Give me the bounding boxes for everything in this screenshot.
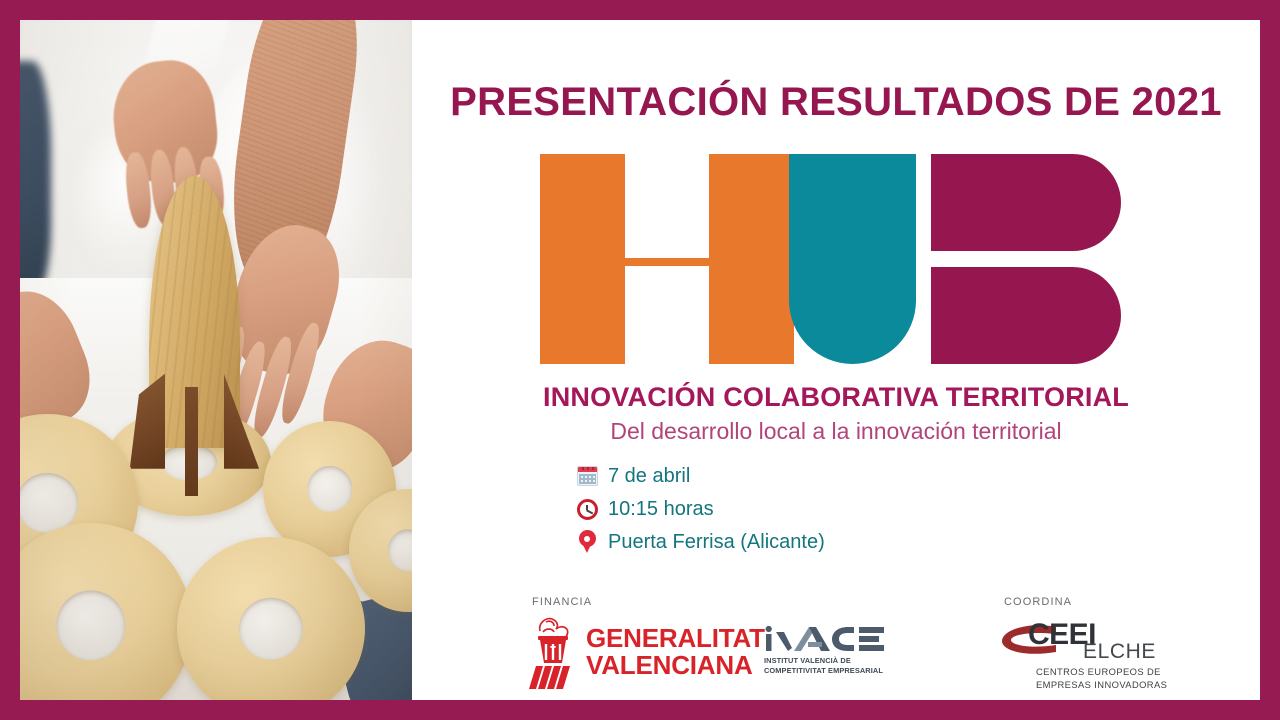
presentation-slide: PRESENTACIÓN RESULTADOS DE 2021 INNOVACI… <box>0 0 1280 720</box>
event-photo <box>20 20 412 700</box>
ceei-subtitle: CENTROS EUROPEOS DE EMPRESAS INNOVADORAS <box>1036 666 1170 692</box>
ceei-city: ELCHE <box>1083 640 1156 664</box>
clock-icon <box>572 496 602 522</box>
ceei-elche-logo: CEEI ELCHE CENTROS EUROPEOS DE EMPRESAS … <box>1000 618 1170 692</box>
generalitat-crest-icon <box>526 614 580 689</box>
event-details: 7 de abril 10:15 horas <box>572 460 1012 559</box>
hub-logo <box>412 154 1260 366</box>
page-title: PRESENTACIÓN RESULTADOS DE 2021 <box>412 80 1260 125</box>
event-date-text: 7 de abril <box>602 465 690 488</box>
hub-logo-letter-h <box>540 154 625 364</box>
hub-logo-letter-u <box>789 154 916 364</box>
calendar-icon <box>572 463 602 489</box>
footer-logos: FINANCIA COORDINA <box>412 576 1260 700</box>
event-detail-time: 10:15 horas <box>572 493 1012 525</box>
generalitat-line-2: VALENCIANA <box>586 650 753 680</box>
hub-logo-letter-h <box>709 154 794 364</box>
generalitat-wordmark: GENERALITAT VALENCIANA <box>586 625 765 678</box>
content-panel: PRESENTACIÓN RESULTADOS DE 2021 INNOVACI… <box>412 20 1260 700</box>
ivace-subtitle-line-1: INSTITUT VALENCIÀ DE <box>764 656 851 665</box>
ceei-subtitle-line-1: CENTROS EUROPEOS DE <box>1036 666 1161 677</box>
event-time-text: 10:15 horas <box>602 498 714 521</box>
ivace-logo: INSTITUT VALENCIÀ DE COMPETITIVITAT EMPR… <box>764 624 886 676</box>
hub-logo-letter-b <box>931 267 1121 364</box>
generalitat-valenciana-logo: GENERALITAT VALENCIANA <box>526 614 765 689</box>
ivace-subtitle-line-2: COMPETITIVITAT EMPRESARIAL <box>764 666 883 675</box>
financia-label: FINANCIA <box>532 596 592 608</box>
coordina-label: COORDINA <box>1004 596 1072 608</box>
photo-scene <box>20 20 412 700</box>
event-detail-location: Puerta Ferrisa (Alicante) <box>572 526 1012 558</box>
ivace-subtitle: INSTITUT VALENCIÀ DE COMPETITIVITAT EMPR… <box>764 656 886 676</box>
tagline-sub: Del desarrollo local a la innovación ter… <box>412 418 1260 445</box>
generalitat-line-1: GENERALITAT <box>586 623 765 653</box>
event-location-text: Puerta Ferrisa (Alicante) <box>602 531 825 554</box>
hub-logo-letter-h-crossbar <box>625 258 709 266</box>
hub-logo-letter-b <box>931 154 1121 251</box>
ivace-wordmark-icon <box>764 624 886 654</box>
tagline-main: INNOVACIÓN COLABORATIVA TERRITORIAL <box>412 382 1260 413</box>
event-detail-date: 7 de abril <box>572 460 1012 492</box>
ceei-subtitle-line-2: EMPRESAS INNOVADORAS <box>1036 679 1167 690</box>
location-pin-icon <box>572 529 602 555</box>
photo-person-jeans <box>20 61 51 292</box>
photo-rocket-fin-center <box>185 387 198 496</box>
